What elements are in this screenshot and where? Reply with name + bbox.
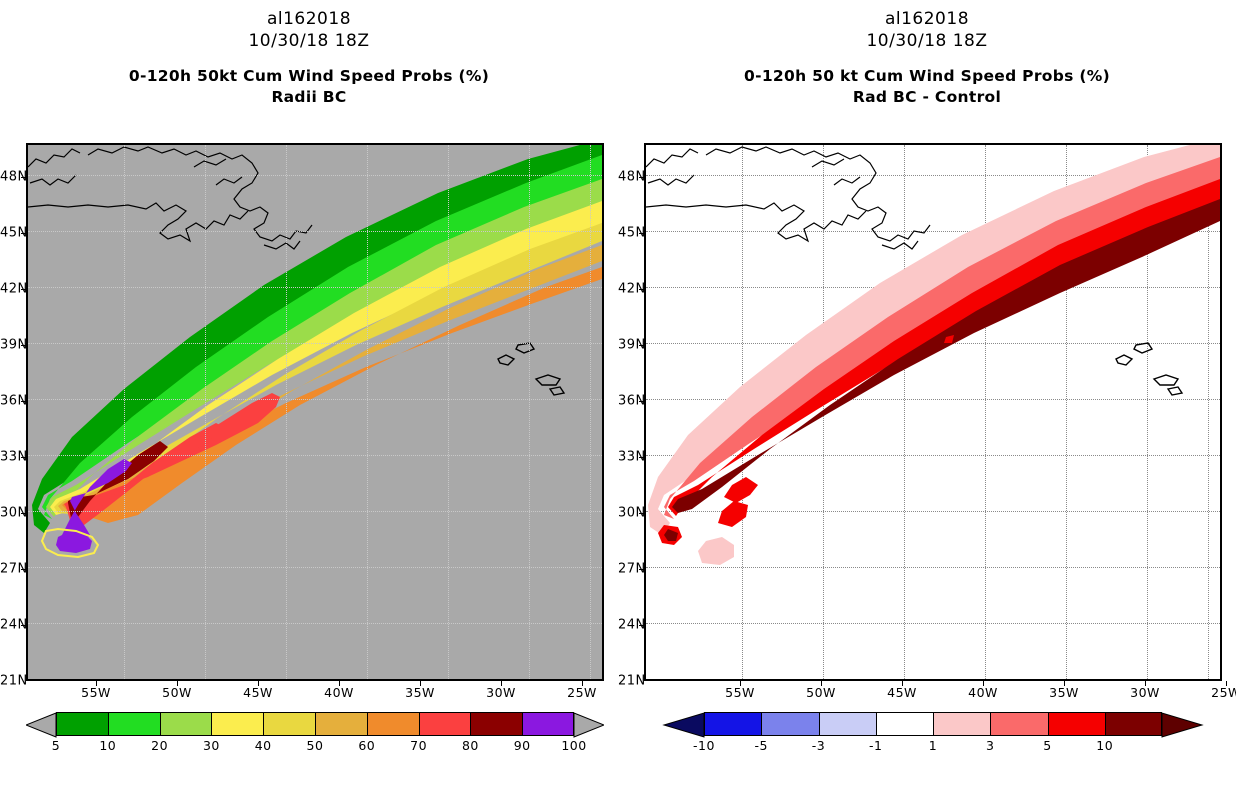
colorbar-cap-high — [1162, 713, 1202, 737]
colorbar-cap-high — [574, 713, 604, 737]
colorbar-band — [819, 712, 876, 736]
x-tick — [821, 681, 822, 686]
y-tick — [21, 345, 26, 346]
x-tick-label: 40W — [324, 686, 354, 699]
colorbar-tick-label: 90 — [514, 739, 531, 753]
colorbar-right-bands — [704, 712, 1162, 736]
colorbar-right-ticks: -10-5-3-113510 — [644, 736, 1222, 756]
x-tick — [1145, 681, 1146, 686]
colorbar-band — [876, 712, 933, 736]
gridline-h — [28, 567, 602, 568]
x-tick-label: 35W — [405, 686, 435, 699]
colorbar-tick-label: 70 — [410, 739, 427, 753]
y-tick — [21, 513, 26, 514]
y-tick-label: 27N — [618, 563, 640, 576]
y-tick-label: 30N — [0, 507, 22, 520]
y-tick-label: 42N — [0, 283, 22, 296]
gridline-v — [448, 145, 449, 679]
gridline-h — [28, 399, 602, 400]
coastline-right — [646, 147, 930, 249]
colorbar-band — [933, 712, 990, 736]
panel-left-titles: al162018 10/30/18 18Z 0-120h 50kt Cum Wi… — [0, 0, 618, 108]
gridline-h — [28, 175, 602, 176]
colorbar-left-bands — [56, 712, 574, 736]
y-tick-label: 39N — [0, 339, 22, 352]
y-tick — [639, 345, 644, 346]
colorbar-tick-label: 30 — [203, 739, 220, 753]
y-tick — [21, 233, 26, 234]
y-tick-label: 42N — [618, 283, 640, 296]
y-tick — [639, 177, 644, 178]
colorbar-band — [1105, 712, 1162, 736]
colorbar-tick-label: 10 — [1096, 739, 1113, 753]
x-tick-label: 30W — [486, 686, 516, 699]
gridline-h — [28, 511, 602, 512]
colorbar-right[interactable]: -10-5-3-113510 — [644, 712, 1222, 758]
colorbar-tick-label: -3 — [812, 739, 825, 753]
gridline-h — [28, 231, 602, 232]
map-plot-right[interactable] — [644, 143, 1222, 681]
colorbar-band — [419, 712, 471, 736]
colorbar-band — [108, 712, 160, 736]
y-tick-label: 36N — [618, 395, 640, 408]
x-tick-label: 25W — [567, 686, 597, 699]
colorbar-tick-label: 1 — [929, 739, 937, 753]
colorbar-band — [211, 712, 263, 736]
y-tick — [21, 177, 26, 178]
y-tick-label: 48N — [0, 171, 22, 184]
chart-title-left: 0-120h 50kt Cum Wind Speed Probs (%) — [0, 66, 618, 87]
colorbar-cap-low — [26, 713, 56, 737]
gridline-h — [28, 287, 602, 288]
y-tick-label: 33N — [618, 451, 640, 464]
gridline-v — [205, 145, 206, 679]
x-tick — [902, 681, 903, 686]
x-tick-label: 40W — [968, 686, 998, 699]
x-tick-label: 45W — [243, 686, 273, 699]
datetime-left: 10/30/18 18Z — [0, 30, 618, 52]
map-contours-right — [646, 145, 1220, 679]
x-tick — [582, 681, 583, 686]
y-tick-label: 24N — [0, 619, 22, 632]
y-tick-label: 36N — [0, 395, 22, 408]
y-tick-label: 33N — [0, 451, 22, 464]
gridline-v — [367, 145, 368, 679]
coastline-left — [28, 147, 312, 249]
gridline-v — [590, 145, 591, 679]
colorbar-band — [160, 712, 212, 736]
y-tick-label: 27N — [0, 563, 22, 576]
colorbar-tick-label: 100 — [561, 739, 586, 753]
datetime-right: 10/30/18 18Z — [618, 30, 1236, 52]
colorbar-band — [263, 712, 315, 736]
panel-radii-bc: al162018 10/30/18 18Z 0-120h 50kt Cum Wi… — [0, 0, 618, 800]
y-tick-label: 45N — [618, 227, 640, 240]
x-tick-label: 30W — [1130, 686, 1160, 699]
gridline-v — [124, 145, 125, 679]
x-tick — [1226, 681, 1227, 686]
y-tick-label: 30N — [618, 507, 640, 520]
y-tick — [639, 569, 644, 570]
x-tick-label: 50W — [162, 686, 192, 699]
colorbar-tick-label: -10 — [693, 739, 715, 753]
x-tick — [258, 681, 259, 686]
y-tick-label: 21N — [618, 675, 640, 688]
y-tick-label: 24N — [618, 619, 640, 632]
y-tick — [21, 569, 26, 570]
x-tick-label: 45W — [887, 686, 917, 699]
x-tick-label: 55W — [725, 686, 755, 699]
colorbar-left[interactable]: 5102030405060708090100 — [26, 712, 604, 758]
x-tick-label: 55W — [81, 686, 111, 699]
colorbar-tick-label: 3 — [986, 739, 994, 753]
colorbar-band — [522, 712, 574, 736]
azores-islands-right — [1116, 343, 1182, 395]
storm-id-right: al162018 — [618, 8, 1236, 30]
colorbar-band — [761, 712, 818, 736]
colorbar-band — [56, 712, 108, 736]
colorbar-tick-label: 20 — [151, 739, 168, 753]
colorbar-tick-label: 5 — [1043, 739, 1051, 753]
colorbar-tick-label: 50 — [307, 739, 324, 753]
chart-subtitle-left: Radii BC — [0, 87, 618, 108]
y-tick — [21, 289, 26, 290]
x-tick-label: 35W — [1049, 686, 1079, 699]
y-tick — [21, 401, 26, 402]
colorbar-band — [367, 712, 419, 736]
colorbar-band — [990, 712, 1047, 736]
colorbar-band — [1048, 712, 1105, 736]
x-tick — [740, 681, 741, 686]
colorbar-cap-low — [664, 713, 704, 737]
panel-rad-bc-minus-control: al162018 10/30/18 18Z 0-120h 50 kt Cum W… — [618, 0, 1236, 800]
x-tick — [420, 681, 421, 686]
colorbar-tick-label: 5 — [52, 739, 60, 753]
gridline-h — [28, 623, 602, 624]
x-tick — [177, 681, 178, 686]
colorbar-band — [704, 712, 761, 736]
y-tick-label: 45N — [0, 227, 22, 240]
chart-subtitle-right: Rad BC - Control — [618, 87, 1236, 108]
colorbar-tick-label: 40 — [255, 739, 272, 753]
storm-id-left: al162018 — [0, 8, 618, 30]
chart-title-right: 0-120h 50 kt Cum Wind Speed Probs (%) — [618, 66, 1236, 87]
map-plot-left[interactable] — [26, 143, 604, 681]
y-tick-label: 39N — [618, 339, 640, 352]
colorbar-tick-label: -1 — [869, 739, 882, 753]
y-tick-label: 48N — [618, 171, 640, 184]
gridline-v — [286, 145, 287, 679]
x-tick — [1064, 681, 1065, 686]
colorbar-tick-label: 60 — [358, 739, 375, 753]
y-tick — [639, 625, 644, 626]
colorbar-band — [315, 712, 367, 736]
map-contours-left — [28, 145, 602, 679]
x-tick-label: 25W — [1211, 686, 1236, 699]
colorbar-tick-label: -5 — [755, 739, 768, 753]
x-tick — [339, 681, 340, 686]
y-tick — [639, 457, 644, 458]
x-tick — [96, 681, 97, 686]
azores-islands-left — [498, 343, 564, 395]
gridline-v — [529, 145, 530, 679]
y-tick — [21, 625, 26, 626]
x-tick — [501, 681, 502, 686]
x-tick — [983, 681, 984, 686]
y-tick — [639, 513, 644, 514]
y-tick-label: 21N — [0, 675, 22, 688]
gridline-h — [28, 455, 602, 456]
y-tick — [639, 401, 644, 402]
panel-right-titles: al162018 10/30/18 18Z 0-120h 50 kt Cum W… — [618, 0, 1236, 108]
y-tick — [21, 457, 26, 458]
figure-root: al162018 10/30/18 18Z 0-120h 50kt Cum Wi… — [0, 0, 1236, 800]
colorbar-band — [470, 712, 522, 736]
colorbar-tick-label: 10 — [99, 739, 116, 753]
colorbar-left-ticks: 5102030405060708090100 — [26, 736, 604, 756]
y-tick — [639, 289, 644, 290]
colorbar-tick-label: 80 — [462, 739, 479, 753]
x-tick-label: 50W — [806, 686, 836, 699]
y-tick — [639, 233, 644, 234]
gridline-h — [28, 343, 602, 344]
